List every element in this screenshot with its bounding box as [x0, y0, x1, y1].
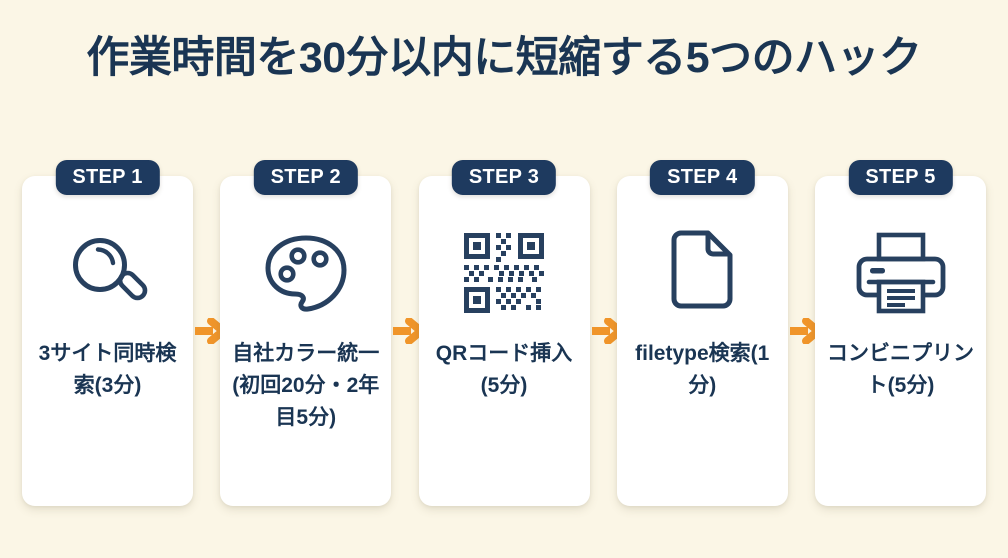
- page-title: 作業時間を30分以内に短縮する5つのハック: [0, 34, 1008, 83]
- step-badge-1: STEP 1: [55, 160, 159, 195]
- document-file-icon: [617, 218, 788, 328]
- step-badge-2: STEP 2: [254, 160, 358, 195]
- step-label-3: QRコード挿入(5分): [429, 338, 580, 402]
- step-badge-5: STEP 5: [848, 160, 952, 195]
- step-badge-4: STEP 4: [650, 160, 754, 195]
- step-card-1[interactable]: STEP 1 3サイト同時検索(3分): [22, 160, 193, 508]
- step-card-4[interactable]: STEP 4 filetype検索(1分): [617, 160, 788, 508]
- step-card-3[interactable]: STEP 3: [419, 160, 590, 508]
- printer-icon: [815, 218, 986, 328]
- infographic-page: 作業時間を30分以内に短縮する5つのハック STEP 1 3サイト同時検索(3分…: [0, 0, 1008, 558]
- paint-palette-icon: [220, 218, 391, 328]
- step-label-5: コンビニプリント(5分): [825, 338, 976, 402]
- step-card-2[interactable]: STEP 2 自社カラー統一(初回20分・2年目5分): [220, 160, 391, 508]
- steps-row: STEP 1 3サイト同時検索(3分): [22, 160, 986, 510]
- magnifying-glass-icon: [22, 218, 193, 328]
- qr-code-icon: [419, 218, 590, 328]
- step-label-4: filetype検索(1分): [627, 338, 778, 402]
- step-card-5[interactable]: STEP 5 コンビニプリント(5分): [815, 160, 986, 508]
- step-label-1: 3サイト同時検索(3分): [32, 338, 183, 402]
- step-badge-3: STEP 3: [452, 160, 556, 195]
- step-label-2: 自社カラー統一(初回20分・2年目5分): [230, 338, 381, 434]
